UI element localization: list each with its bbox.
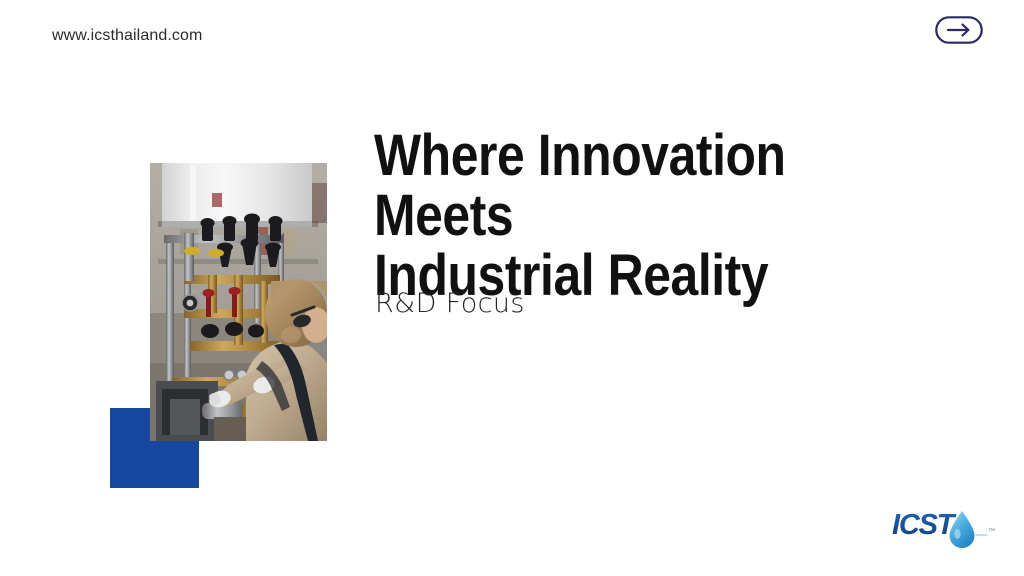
website-url: www.icsthailand.com	[52, 27, 202, 45]
svg-text:™: ™	[988, 528, 995, 535]
presentation-slide: www.icsthailand.com	[0, 0, 1024, 576]
industrial-technician-photo	[150, 163, 327, 441]
page-title: Where Innovation Meets Industrial Realit…	[374, 126, 890, 306]
icst-logo: ICST ™	[892, 503, 1002, 555]
page-subtitle: R&D Focus	[375, 288, 525, 319]
svg-text:ICST: ICST	[892, 509, 957, 541]
arrow-right-pill-icon[interactable]	[935, 16, 983, 44]
